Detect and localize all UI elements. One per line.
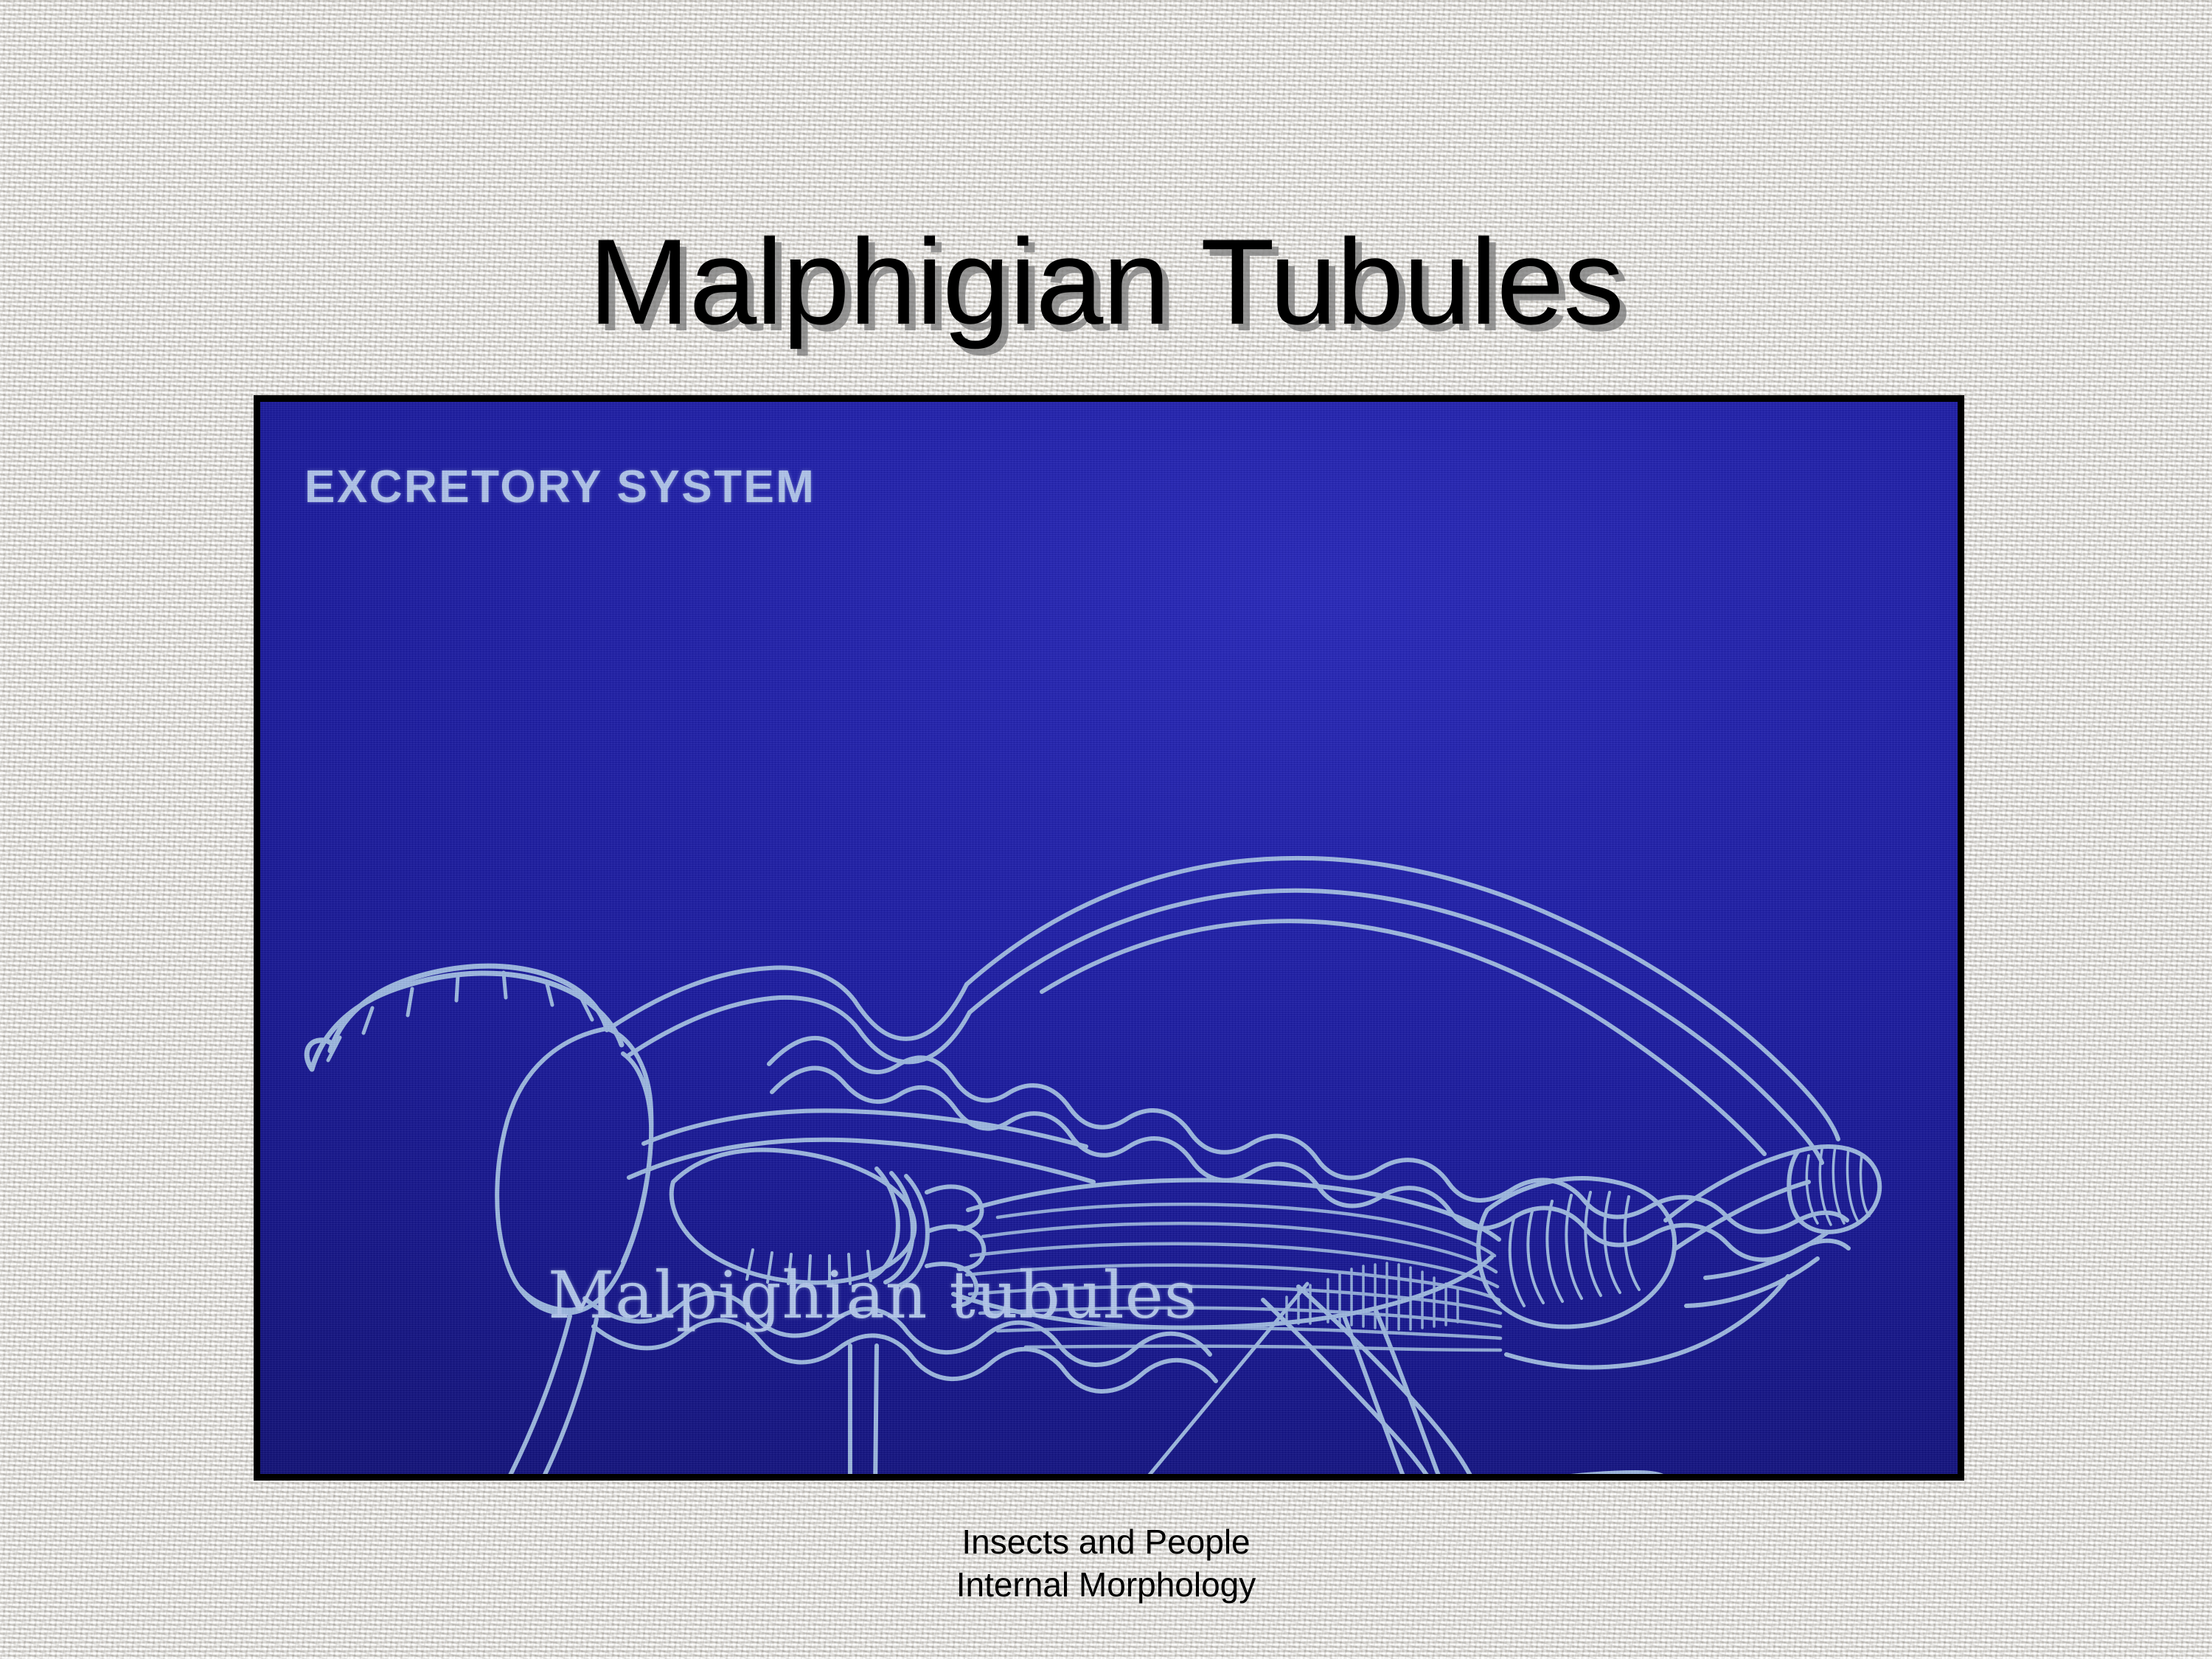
foreleg xyxy=(303,1316,597,1474)
diagram-canvas: EXCRETORY SYSTEM Malpighian tubules xyxy=(260,402,1958,1474)
slide-footer: Insects and People Internal Morphology xyxy=(0,1521,2212,1607)
abdomen-tip-contour xyxy=(1506,1232,1828,1367)
malpighian-tubules-callout: Malpighian tubules xyxy=(548,1257,1198,1333)
excretory-system-heading: EXCRETORY SYSTEM xyxy=(305,461,815,513)
forewing-outline xyxy=(967,858,1838,1163)
antenna-icon xyxy=(307,966,622,1069)
excretory-system-image: EXCRETORY SYSTEM Malpighian tubules xyxy=(254,395,1964,1481)
page-title: Malphigian Tubules xyxy=(0,221,2212,343)
midleg xyxy=(810,1346,930,1474)
hindleg xyxy=(1263,1287,1669,1474)
footer-line-course: Insects and People xyxy=(0,1521,2212,1564)
footer-line-topic: Internal Morphology xyxy=(0,1564,2212,1607)
